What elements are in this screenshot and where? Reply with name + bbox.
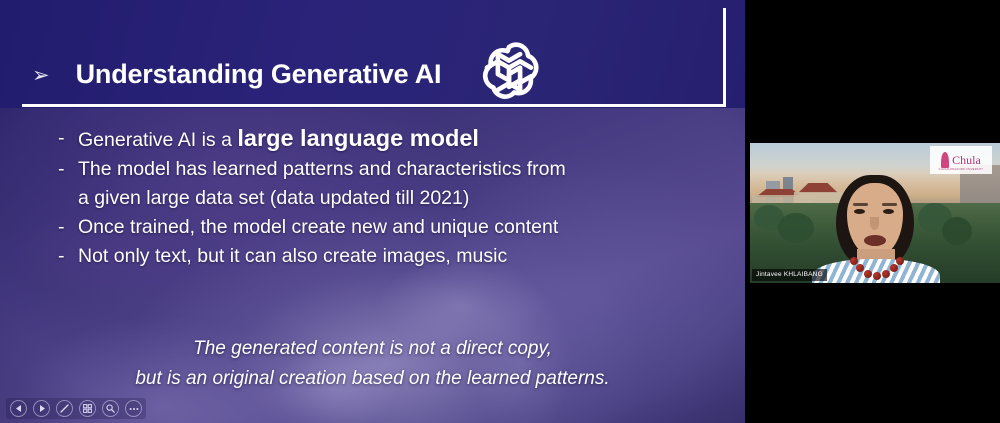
previous-slide-button[interactable] [10, 400, 27, 417]
list-item: - Generative AI is a large language mode… [58, 124, 718, 155]
video-background-tree [942, 217, 972, 245]
presentation-slide[interactable]: ➢ Understanding Generative AI [0, 0, 745, 423]
bullet-text-line: The model has learned patterns and chara… [78, 155, 718, 184]
next-slide-button[interactable] [33, 400, 50, 417]
participant-necklace [850, 255, 902, 281]
slide-thumbnails-button[interactable] [79, 400, 96, 417]
participant-eyebrow [853, 203, 868, 206]
slide-footnote: The generated content is not a direct co… [0, 334, 745, 394]
participant-eye [854, 209, 865, 214]
more-options-button[interactable] [125, 400, 142, 417]
zoom-button[interactable] [102, 400, 119, 417]
screen-root: ➢ Understanding Generative AI [0, 0, 1000, 423]
slide-header-band: ➢ Understanding Generative AI [0, 0, 745, 108]
chula-emblem-icon [941, 152, 949, 168]
bullet-dash-icon: - [58, 213, 78, 242]
list-item: - Not only text, but it can also create … [58, 242, 718, 271]
slide-footnote-line-1: The generated content is not a direct co… [0, 334, 745, 364]
participant-eye [883, 209, 894, 214]
bullet-text: The model has learned patterns and chara… [78, 155, 718, 213]
slide-title-row: ➢ Understanding Generative AI [32, 36, 545, 113]
bullet-text-plain: Generative AI is a [78, 129, 237, 151]
arrow-bullet-icon: ➢ [32, 65, 50, 86]
participant-nose [870, 217, 879, 230]
slide-footnote-line-2: but is an original creation based on the… [0, 364, 745, 394]
bullet-dash-icon: - [58, 242, 78, 271]
video-background-tree [778, 213, 814, 243]
bullet-text: Not only text, but it can also create im… [78, 242, 718, 271]
participant-mouth [864, 235, 886, 246]
pen-tool-button[interactable] [56, 400, 73, 417]
list-item: - Once trained, the model create new and… [58, 213, 718, 242]
openai-logo [473, 36, 545, 113]
slide-title: Understanding Generative AI [76, 59, 442, 90]
chula-wordmark: Chula [952, 154, 981, 166]
presenter-toolbar[interactable] [6, 398, 146, 419]
list-item: - The model has learned patterns and cha… [58, 155, 718, 213]
participant-video-tile[interactable]: Chula CHULALONGKORN UNIVERSITY Jintavee … [750, 143, 1000, 283]
participant-eyebrow [882, 203, 897, 206]
slide-bullet-list: - Generative AI is a large language mode… [58, 124, 718, 271]
chula-subtext: CHULALONGKORN UNIVERSITY [930, 168, 992, 171]
bullet-text-line: a given large data set (data updated til… [78, 184, 718, 213]
participant-name-label: Jintavee KHLAIBANG [752, 269, 827, 281]
bullet-text: Generative AI is a large language model [78, 124, 718, 155]
bullet-dash-icon: - [58, 155, 78, 184]
chula-watermark: Chula CHULALONGKORN UNIVERSITY [930, 146, 992, 174]
bullet-dash-icon: - [58, 124, 78, 153]
bullet-text: Once trained, the model create new and u… [78, 213, 718, 242]
bullet-text-emphasis: large language model [237, 125, 479, 151]
